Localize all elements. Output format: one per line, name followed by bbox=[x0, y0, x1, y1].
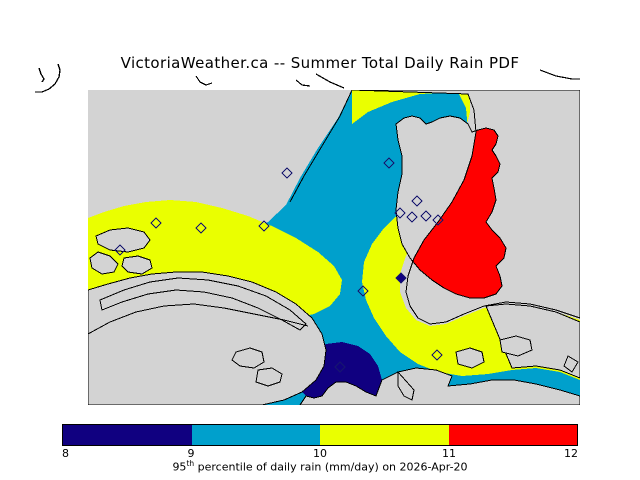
colorbar-caption: 95th percentile of daily rain (mm/day) o… bbox=[0, 459, 640, 474]
coastline-fragment-above-frame bbox=[196, 70, 580, 88]
colorbar-band-9-10[interactable] bbox=[192, 425, 321, 445]
coastline-fragment-topleft bbox=[35, 64, 60, 92]
rainfall-contour-map bbox=[0, 0, 640, 480]
colorbar bbox=[62, 424, 578, 446]
colorbar-band-8-9[interactable] bbox=[63, 425, 192, 445]
colorbar-band-11-12[interactable] bbox=[449, 425, 578, 445]
colorbar-band-10-11[interactable] bbox=[320, 425, 449, 445]
map-panel bbox=[88, 90, 580, 405]
caption-rest: percentile of daily rain (mm/day) on 202… bbox=[194, 461, 467, 474]
weather-map-figure: VictoriaWeather.ca -- Summer Total Daily… bbox=[0, 0, 640, 480]
caption-prefix: 95 bbox=[172, 461, 186, 474]
caption-superscript: th bbox=[186, 459, 194, 468]
colorbar-bands bbox=[62, 424, 578, 446]
